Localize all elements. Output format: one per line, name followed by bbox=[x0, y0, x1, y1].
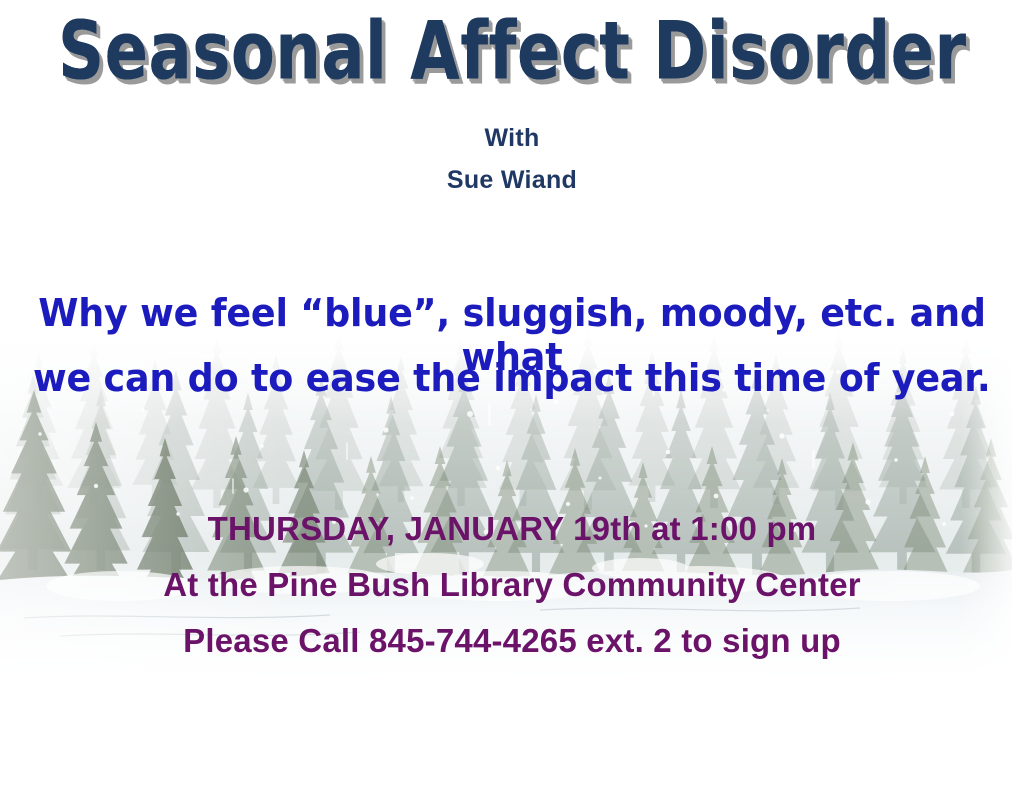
event-where-line: At the Pine Bush Library Community Cente… bbox=[0, 566, 1024, 604]
poster-canvas: Seasonal Affect Disorder Seasonal Affect… bbox=[0, 0, 1024, 791]
title-block: Seasonal Affect Disorder Seasonal Affect… bbox=[0, 14, 1024, 85]
body-line-2: we can do to ease the impact this time o… bbox=[0, 356, 1024, 400]
presenter-name: Sue Wiand bbox=[447, 166, 577, 194]
event-signup-line: Please Call 845-744-4265 ext. 2 to sign … bbox=[0, 622, 1024, 660]
poster-title: Seasonal Affect Disorder bbox=[58, 8, 967, 95]
event-location: At the Pine Bush Library Community Cente… bbox=[163, 566, 861, 603]
body-text-line-2: we can do to ease the impact this time o… bbox=[33, 356, 991, 400]
with-label: With bbox=[484, 124, 539, 152]
event-signup-phone: Please Call 845-744-4265 ext. 2 to sign … bbox=[183, 622, 841, 659]
event-when-line: THURSDAY, JANUARY 19th at 1:00 pm bbox=[0, 510, 1024, 548]
event-datetime: THURSDAY, JANUARY 19th at 1:00 pm bbox=[208, 510, 817, 547]
poster-title-wordart: Seasonal Affect Disorder Seasonal Affect… bbox=[44, 14, 981, 85]
with-line: With bbox=[0, 124, 1024, 153]
presenter-line: Sue Wiand bbox=[0, 166, 1024, 195]
